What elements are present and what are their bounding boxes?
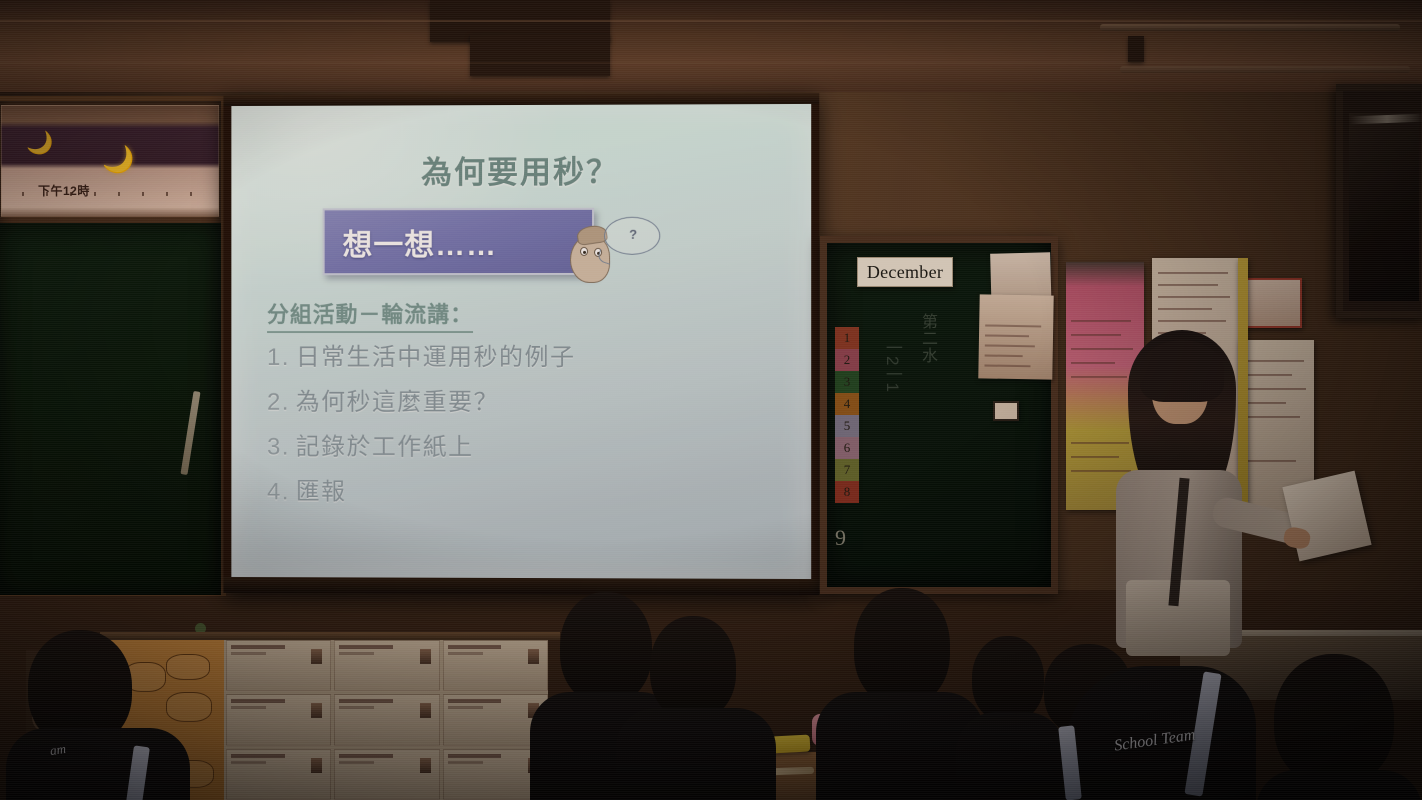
projection-screen: 為何要用秒？ 想一想…… ? 分組活動－輪流講： 1.日常生活中運用秒的例子: [223, 93, 819, 595]
list-item-text: 記錄於工作紙上: [296, 434, 474, 461]
crescent-moon-icon: 🌙: [102, 146, 134, 172]
student-shoulders: [616, 708, 776, 800]
student-card-grid: [226, 640, 548, 800]
student-right-jacket: School Team: [1036, 640, 1266, 800]
time-of-day-poster: 🌙 🌙 下午12時: [1, 105, 219, 217]
list-item: 4.匯報: [267, 472, 787, 508]
student-card: [334, 749, 439, 800]
student-card: [226, 694, 331, 745]
think-box-text: 想一想……: [325, 220, 497, 264]
month-sign: December: [857, 257, 953, 287]
slide-subheading: 分組活動－輪流講：: [267, 297, 473, 333]
ceiling: [0, 0, 1422, 100]
list-item-number: 2.: [267, 389, 290, 416]
teacher: [1082, 330, 1282, 670]
student-head: [972, 636, 1044, 722]
thought-bubble-text: ?: [629, 227, 637, 242]
chalk-vertical-text: 第二水: [915, 313, 939, 364]
red-frame-notice: [1244, 278, 1302, 328]
student-center: [616, 616, 776, 800]
student-left-back: am: [0, 630, 190, 800]
number-cell-strip: 1 2 3 4 5 6 7 8: [835, 327, 859, 503]
slide-list: 1.日常生活中運用秒的例子 2.為何秒這麼重要？ 3.記錄於工作紙上 4.匯報: [267, 337, 787, 518]
poster-tick-marks: [22, 192, 212, 198]
classroom-photo: 🌙 🌙 下午12時 為何要用秒？ 想一想……: [0, 0, 1422, 800]
thought-bubble: ?: [604, 217, 660, 255]
student-head: [854, 588, 950, 706]
think-box: 想一想……: [323, 208, 594, 275]
slide-title: 為何要用秒？: [231, 146, 811, 193]
pipe-bracket: [1128, 36, 1144, 62]
jacket-stripe: [1058, 725, 1082, 800]
mascot-eye: [580, 247, 588, 256]
ceiling-pipe: [1120, 66, 1410, 73]
jacket-stripe: [122, 745, 150, 800]
jacket-text: am: [49, 741, 67, 759]
monitor-screen: [1349, 113, 1419, 301]
number-cell: 7: [835, 459, 859, 481]
left-board-surface: [0, 223, 221, 595]
list-item-number: 4.: [267, 478, 290, 505]
list-item-text: 匯報: [296, 479, 347, 506]
chalk-vertical-text-secondary: 一2一1: [877, 339, 906, 392]
student-head: [650, 616, 736, 720]
number-cell: 8: [835, 481, 859, 503]
student-head: [1274, 654, 1394, 786]
ceiling-seam: [0, 62, 1422, 64]
projected-slide: 為何要用秒？ 想一想…… ? 分組活動－輪流講： 1.日常生活中運用秒的例子: [231, 104, 811, 579]
month-sign-label: December: [867, 262, 943, 283]
number-cell: 1: [835, 327, 859, 349]
center-chalkboard: December 1 2 3 4 5 6 7 8 9 第二水 一2一1: [820, 236, 1058, 594]
list-item: 2.為何秒這麼重要？: [267, 382, 787, 417]
teacher-hair-front: [1140, 340, 1224, 402]
chalk-number: 9: [835, 525, 846, 551]
list-item-number: 1.: [267, 344, 290, 371]
list-item: 1.日常生活中運用秒的例子: [267, 337, 787, 372]
student-shoulders: [1256, 770, 1422, 800]
student-card: [226, 749, 331, 800]
list-item-text: 為何秒這麼重要？: [296, 389, 499, 416]
ceiling-pipe: [1100, 24, 1400, 31]
crescent-moon-icon: 🌙: [26, 132, 53, 154]
student-card: [226, 640, 331, 691]
number-cell: 5: [835, 415, 859, 437]
list-item: 3.記錄於工作紙上: [267, 427, 787, 463]
number-cell: 3: [835, 371, 859, 393]
student-jacket: [6, 728, 190, 800]
board-photo-card: [993, 401, 1019, 421]
number-cell: 6: [835, 437, 859, 459]
student-card: [334, 640, 439, 691]
thinking-mascot-icon: ?: [568, 217, 664, 289]
ceiling-beam: [470, 34, 610, 76]
number-cell: 4: [835, 393, 859, 415]
left-chalkboard: 🌙 🌙 下午12時: [0, 96, 226, 596]
student-card: [334, 694, 439, 745]
student-far-right: [1256, 654, 1422, 800]
wall-mounted-monitor[interactable]: [1336, 84, 1422, 318]
list-item-number: 3.: [267, 434, 290, 461]
screen-bottom-bar: [223, 577, 819, 595]
number-cell: 2: [835, 349, 859, 371]
board-illustrated-notice: [978, 294, 1053, 379]
list-item-text: 日常生活中運用秒的例子: [296, 344, 576, 371]
ceiling-seam: [0, 20, 1422, 22]
